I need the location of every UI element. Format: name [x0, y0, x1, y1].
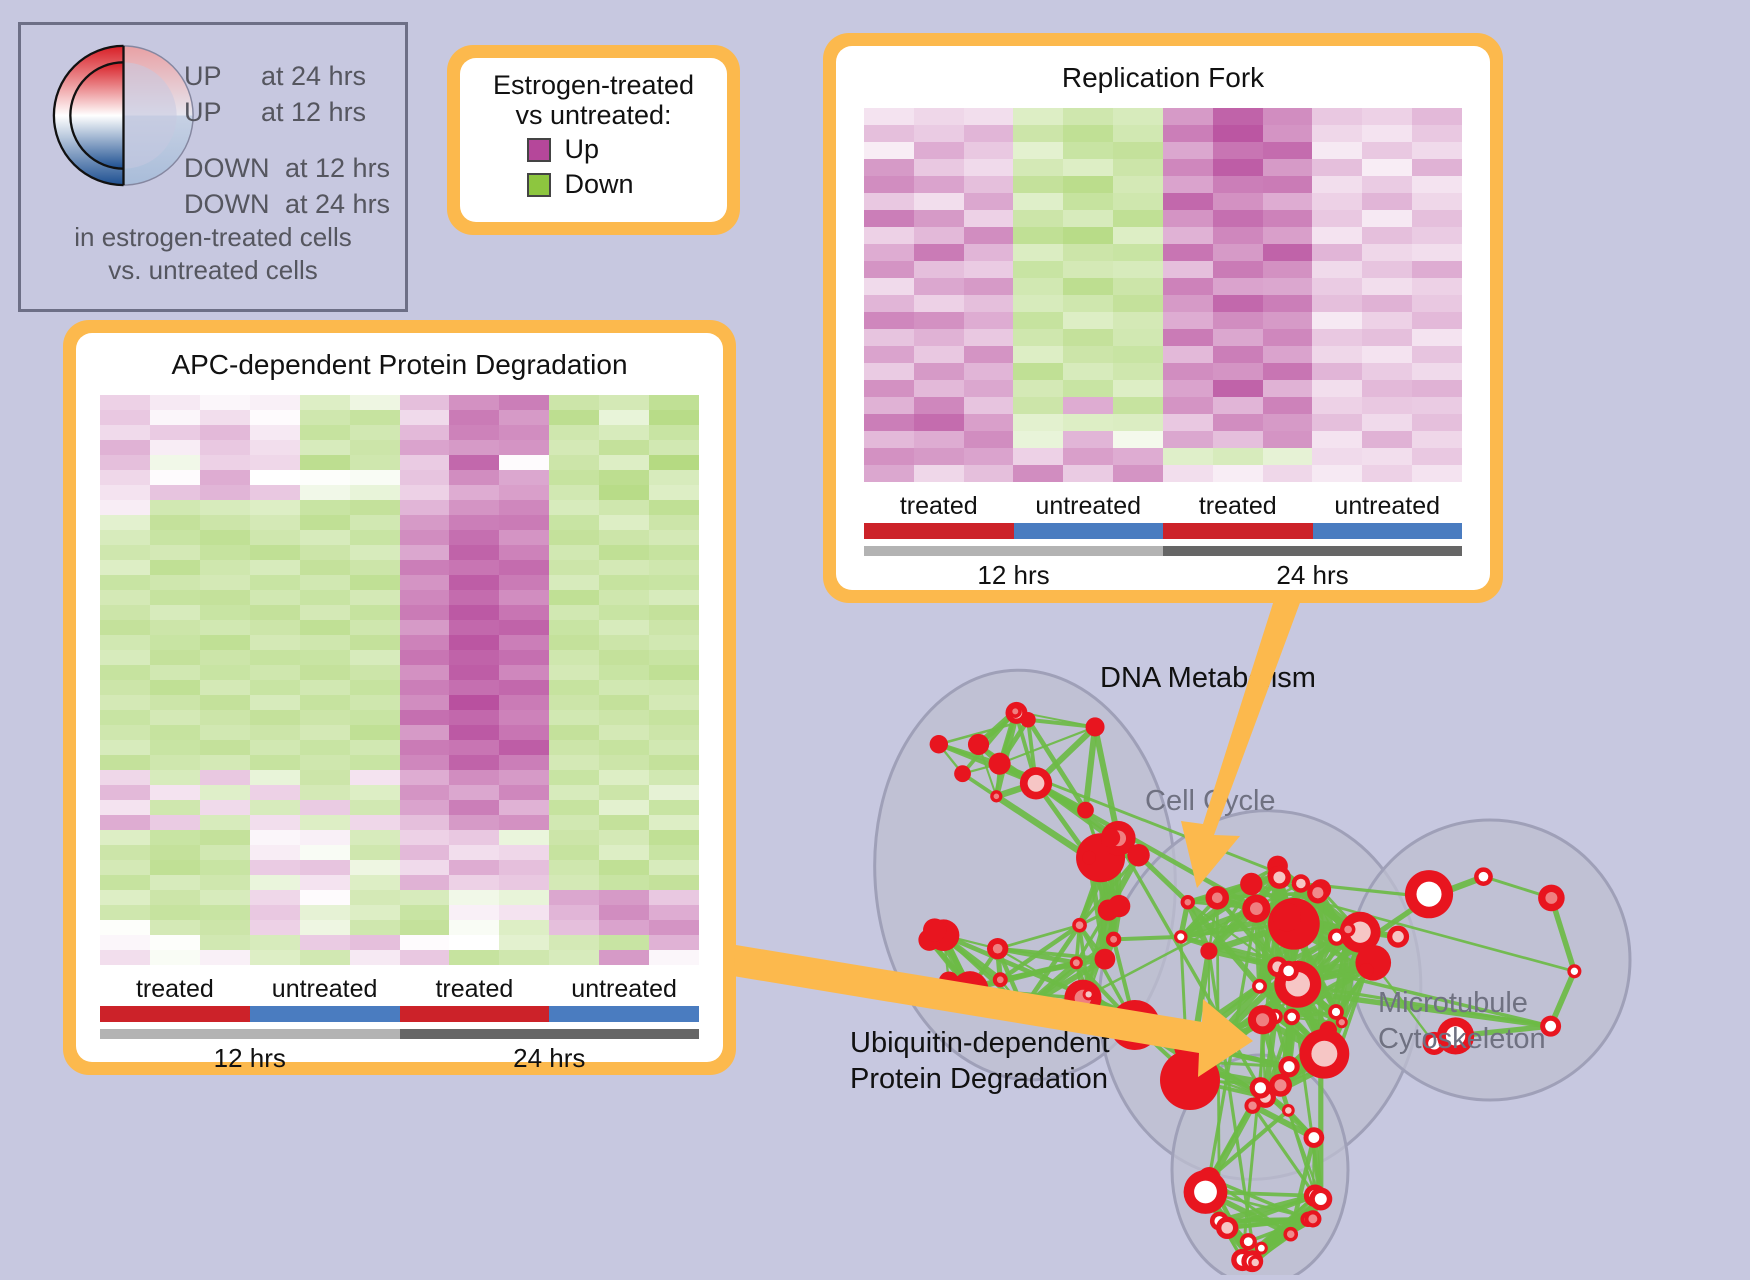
heatmap-cell: [250, 815, 300, 830]
node-core: [1256, 1013, 1269, 1026]
network-node[interactable]: [1083, 988, 1095, 1000]
heatmap-cell: [1063, 346, 1113, 363]
network-node[interactable]: [1355, 945, 1391, 981]
heatmap-cell: [350, 620, 400, 635]
heatmap-cell: [400, 830, 450, 845]
network-node[interactable]: [1405, 870, 1453, 918]
heatmap-cell: [250, 890, 300, 905]
heatmap-cell: [1213, 278, 1263, 295]
heatmap-cell: [864, 329, 914, 346]
heatmap-cell: [1163, 278, 1213, 295]
node-core: [1076, 921, 1084, 929]
heatmap-cell: [250, 680, 300, 695]
network-node[interactable]: [1341, 922, 1356, 937]
heatmap-cell: [599, 680, 649, 695]
network-node[interactable]: [1020, 767, 1052, 799]
heatmap-cell: [300, 575, 350, 590]
network-node[interactable]: [1268, 866, 1291, 889]
network-node[interactable]: [1282, 1104, 1295, 1117]
heatmap-cell: [549, 785, 599, 800]
heatmap-cell: [449, 440, 499, 455]
heatmap-cell: [250, 545, 300, 560]
heatmap-cell: [400, 740, 450, 755]
heatmap-cell: [200, 875, 250, 890]
heatmap-cell: [864, 176, 914, 193]
heatmap-cell: [1113, 210, 1163, 227]
wheel-time-1: at 12 hrs: [261, 97, 366, 128]
heatmap-cell: [300, 470, 350, 485]
heatmap-cell: [350, 800, 400, 815]
heatmap-cell: [100, 920, 150, 935]
node-core: [1275, 1079, 1287, 1091]
heatmap-cell: [599, 800, 649, 815]
heatmap-cell: [150, 650, 200, 665]
heatmap-cell: [400, 905, 450, 920]
heatmap-cell: [1213, 346, 1263, 363]
heatmap-cell: [499, 560, 549, 575]
heatmap-cell: [200, 710, 250, 725]
heatmap-cell: [1362, 108, 1412, 125]
heatmap-cell: [1312, 312, 1362, 329]
heatmap-cell: [250, 845, 300, 860]
apc-degradation-treatment-bars: [100, 1006, 699, 1022]
time-label-1: 24 hrs: [1163, 556, 1462, 591]
heatmap-cell: [400, 440, 450, 455]
network-node[interactable]: [987, 938, 1008, 959]
heatmap-cell: [250, 935, 300, 950]
heatmap-cell: [499, 875, 549, 890]
network-node[interactable]: [1278, 1056, 1299, 1077]
cluster-label-cell-cycle: Cell Cycle: [1145, 785, 1276, 818]
heatmap-cell: [549, 605, 599, 620]
heatmap-cell: [200, 905, 250, 920]
heatmap-cell: [1412, 312, 1462, 329]
heatmap-cell: [150, 830, 200, 845]
heatmap-cell: [599, 575, 649, 590]
heatmap-cell: [100, 725, 150, 740]
heatmap-cell: [599, 500, 649, 515]
wheel-state-0: UP: [184, 61, 222, 92]
heatmap-cell: [914, 346, 964, 363]
network-node[interactable]: [1250, 1077, 1272, 1099]
heatmap-cell: [200, 815, 250, 830]
heatmap-cell: [1163, 108, 1213, 125]
heatmap-cell: [1113, 125, 1163, 142]
network-node[interactable]: [989, 753, 1011, 775]
heatmap-cell: [649, 725, 699, 740]
heatmap-cell: [250, 590, 300, 605]
node-core: [1339, 1019, 1345, 1025]
heatmap-cell: [250, 950, 300, 965]
heatmap-cell: [1412, 329, 1462, 346]
heatmap-cell: [499, 905, 549, 920]
node-core: [1545, 1021, 1556, 1032]
network-node[interactable]: [1292, 874, 1310, 892]
heatmap-cell: [1412, 431, 1462, 448]
heatmap-cell: [1263, 448, 1313, 465]
network-node[interactable]: [1248, 1255, 1262, 1269]
network-node[interactable]: [1082, 851, 1096, 865]
heatmap-cell: [200, 740, 250, 755]
network-node[interactable]: [1248, 1005, 1277, 1034]
network-node[interactable]: [1160, 1050, 1220, 1110]
heatmap-cell: [100, 815, 150, 830]
node-core: [1073, 959, 1080, 966]
network-node[interactable]: [1205, 886, 1229, 910]
heatmap-cell: [499, 485, 549, 500]
heatmap-cell: [964, 125, 1014, 142]
heatmap-cell: [100, 845, 150, 860]
heatmap-cell: [150, 905, 200, 920]
heatmap-cell: [1412, 397, 1462, 414]
heatmap-cell: [549, 575, 599, 590]
heatmap-cell: [100, 800, 150, 815]
network-node[interactable]: [1181, 895, 1195, 909]
heatmap-cell: [449, 680, 499, 695]
heatmap-cell: [1213, 193, 1263, 210]
heatmap-cell: [400, 665, 450, 680]
heatmap-cell: [649, 920, 699, 935]
network-node[interactable]: [1278, 961, 1298, 981]
heatmap-cell: [100, 785, 150, 800]
heatmap-cell: [1263, 244, 1313, 261]
heatmap-cell: [1163, 414, 1213, 431]
network-node[interactable]: [1359, 963, 1373, 977]
network-node[interactable]: [1064, 980, 1101, 1017]
heatmap-cell: [649, 860, 699, 875]
heatmap-cell: [1412, 295, 1462, 312]
heatmap-cell: [250, 635, 300, 650]
heatmap-cell: [1213, 244, 1263, 261]
heatmap-cell: [1263, 176, 1313, 193]
heatmap-cell: [599, 455, 649, 470]
heatmap-cell: [1312, 380, 1362, 397]
apc-degradation-heatmap: [100, 395, 699, 965]
heatmap-cell: [649, 740, 699, 755]
heatmap-cell: [100, 665, 150, 680]
heatmap-cell: [964, 380, 1014, 397]
network-node[interactable]: [952, 971, 989, 1008]
network-node[interactable]: [1174, 930, 1188, 944]
network-node[interactable]: [1307, 882, 1328, 903]
heatmap-cell: [1163, 448, 1213, 465]
heatmap-cell: [549, 470, 599, 485]
heatmap-cell: [1113, 159, 1163, 176]
network-node[interactable]: [1110, 1000, 1160, 1050]
heatmap-cell: [1163, 465, 1213, 482]
heatmap-cell: [200, 500, 250, 515]
heatmap-cell: [1163, 244, 1213, 261]
heatmap-cell: [150, 695, 200, 710]
network-node[interactable]: [1094, 949, 1115, 970]
network-node[interactable]: [954, 765, 971, 782]
heatmap-cell: [1063, 244, 1113, 261]
heatmap-cell: [400, 860, 450, 875]
node-core: [994, 794, 1000, 800]
network-node[interactable]: [1009, 705, 1022, 718]
heatmap-cell: [150, 890, 200, 905]
network-node[interactable]: [1070, 956, 1083, 969]
heatmap-cell: [499, 935, 549, 950]
node-core: [1296, 879, 1306, 889]
heatmap-cell: [599, 905, 649, 920]
network-node[interactable]: [1387, 926, 1409, 948]
colorwheel-icon: [51, 43, 196, 188]
heatmap-cell: [1013, 431, 1063, 448]
network-node[interactable]: [1240, 1233, 1257, 1250]
time-bar-1: [400, 1029, 700, 1039]
heatmap-cell: [914, 227, 964, 244]
heatmap-cell: [549, 935, 599, 950]
cluster-halo-2: [1350, 820, 1630, 1100]
apc-degradation-group-labels: treateduntreatedtreateduntreated: [100, 975, 699, 1004]
heatmap-cell: [549, 740, 599, 755]
heatmap-cell: [250, 560, 300, 575]
heatmap-cell: [1013, 380, 1063, 397]
color-legend-heading-line2: vs untreated:: [470, 100, 717, 130]
heatmap-cell: [914, 210, 964, 227]
heatmap-cell: [499, 920, 549, 935]
heatmap-cell: [1312, 142, 1362, 159]
colorwheel-footer-line2: vs. untreated cells: [21, 254, 405, 287]
network-node[interactable]: [1184, 1170, 1228, 1214]
heatmap-cell: [1163, 431, 1213, 448]
legend-item-down: Down: [470, 169, 717, 200]
heatmap-cell: [400, 755, 450, 770]
network-node[interactable]: [930, 735, 948, 753]
heatmap-cell: [200, 620, 250, 635]
heatmap-cell: [499, 800, 549, 815]
heatmap-cell: [250, 410, 300, 425]
treatment-bar-1: [250, 1006, 400, 1022]
network-node[interactable]: [1242, 894, 1270, 922]
heatmap-cell: [1412, 227, 1462, 244]
heatmap-cell: [300, 605, 350, 620]
node-core: [1256, 982, 1264, 990]
heatmap-cell: [599, 845, 649, 860]
network-node[interactable]: [1304, 1210, 1321, 1227]
network-node[interactable]: [1538, 885, 1565, 912]
heatmap-cell: [1312, 363, 1362, 380]
network-node[interactable]: [990, 790, 1002, 802]
heatmap-cell: [1113, 448, 1163, 465]
network-node[interactable]: [968, 734, 989, 755]
heatmap-cell: [964, 397, 1014, 414]
heatmap-cell: [964, 363, 1014, 380]
heatmap-cell: [100, 755, 150, 770]
apc-degradation-panel: APC-dependent Protein Degradation treate…: [63, 320, 736, 1075]
heatmap-cell: [499, 710, 549, 725]
heatmap-cell: [1113, 227, 1163, 244]
network-node[interactable]: [1328, 1004, 1344, 1020]
heatmap-cell: [400, 680, 450, 695]
heatmap-cell: [649, 530, 699, 545]
colorwheel-footer: in estrogen-treated cells vs. untreated …: [21, 221, 405, 286]
heatmap-cell: [400, 935, 450, 950]
heatmap-cell: [449, 500, 499, 515]
network-node[interactable]: [1299, 1029, 1349, 1079]
heatmap-cell: [449, 770, 499, 785]
network-node[interactable]: [1077, 802, 1094, 819]
network-node[interactable]: [1020, 712, 1035, 727]
heatmap-cell: [350, 815, 400, 830]
heatmap-cell: [350, 725, 400, 740]
heatmap-cell: [1113, 465, 1163, 482]
heatmap-cell: [350, 440, 400, 455]
heatmap-cell: [200, 890, 250, 905]
heatmap-cell: [549, 590, 599, 605]
network-node[interactable]: [1101, 828, 1120, 847]
treatment-bar-0: [100, 1006, 250, 1022]
group-label-0: treated: [100, 975, 250, 1004]
network-node[interactable]: [1012, 997, 1035, 1020]
heatmap-cell: [599, 545, 649, 560]
network-node[interactable]: [1086, 717, 1105, 736]
heatmap-cell: [250, 620, 300, 635]
heatmap-cell: [400, 635, 450, 650]
heatmap-cell: [1013, 227, 1063, 244]
heatmap-cell: [400, 770, 450, 785]
heatmap-cell: [400, 605, 450, 620]
heatmap-cell: [1063, 159, 1113, 176]
heatmap-cell: [864, 227, 914, 244]
heatmap-cell: [350, 575, 400, 590]
network-node[interactable]: [1283, 1227, 1298, 1242]
apc-degradation-time-labels: 12 hrs24 hrs: [100, 1039, 699, 1074]
node-core: [1283, 966, 1294, 977]
network-node[interactable]: [993, 972, 1008, 987]
heatmap-cell: [549, 830, 599, 845]
heatmap-cell: [1163, 346, 1213, 363]
heatmap-cell: [200, 725, 250, 740]
apc-degradation-title: APC-dependent Protein Degradation: [76, 333, 723, 381]
network-node[interactable]: [1127, 844, 1149, 866]
network-node[interactable]: [1255, 1242, 1268, 1255]
network-node[interactable]: [1309, 1188, 1332, 1211]
network-svg: [790, 610, 1740, 1275]
heatmap-cell: [1263, 125, 1313, 142]
heatmap-cell: [350, 770, 400, 785]
heatmap-cell: [864, 244, 914, 261]
heatmap-cell: [1063, 363, 1113, 380]
node-core: [1194, 1181, 1217, 1204]
heatmap-cell: [964, 295, 1014, 312]
heatmap-cell: [300, 395, 350, 410]
heatmap-cell: [250, 905, 300, 920]
heatmap-cell: [914, 176, 964, 193]
heatmap-cell: [250, 485, 300, 500]
heatmap-cell: [1412, 448, 1462, 465]
heatmap-cell: [1213, 397, 1263, 414]
heatmap-cell: [1213, 448, 1263, 465]
heatmap-cell: [100, 425, 150, 440]
heatmap-cell: [599, 425, 649, 440]
heatmap-cell: [649, 395, 699, 410]
heatmap-cell: [350, 455, 400, 470]
heatmap-cell: [400, 890, 450, 905]
heatmap-cell: [449, 905, 499, 920]
heatmap-cell: [1263, 159, 1313, 176]
heatmap-cell: [300, 875, 350, 890]
network-node[interactable]: [1304, 1127, 1325, 1148]
network-node[interactable]: [1567, 964, 1581, 978]
network-node[interactable]: [1474, 867, 1493, 886]
heatmap-cell: [549, 695, 599, 710]
heatmap-cell: [649, 815, 699, 830]
network-node[interactable]: [923, 918, 946, 941]
heatmap-cell: [400, 650, 450, 665]
heatmap-cell: [449, 530, 499, 545]
network-node[interactable]: [1244, 1098, 1260, 1114]
network-node[interactable]: [1106, 932, 1121, 947]
legend-label-down: Down: [565, 169, 661, 200]
network-node[interactable]: [1283, 1009, 1300, 1026]
heatmap-cell: [200, 695, 250, 710]
wheel-state-1: UP: [184, 97, 222, 128]
heatmap-cell: [400, 800, 450, 815]
heatmap-cell: [300, 710, 350, 725]
cluster-label-ubiquitin-degradation: Ubiquitin-dependent Protein Degradation: [850, 1025, 1110, 1098]
heatmap-cell: [1163, 261, 1213, 278]
heatmap-cell: [1113, 312, 1163, 329]
network-node[interactable]: [1200, 942, 1217, 959]
network-node[interactable]: [1072, 918, 1087, 933]
node-core: [1273, 871, 1285, 883]
heatmap-cell: [1063, 329, 1113, 346]
heatmap-cell: [150, 950, 200, 965]
heatmap-cell: [250, 800, 300, 815]
group-label-1: untreated: [250, 975, 400, 1004]
node-core: [1392, 931, 1403, 942]
heatmap-cell: [400, 845, 450, 860]
heatmap-cell: [200, 785, 250, 800]
heatmap-cell: [200, 425, 250, 440]
heatmap-cell: [250, 725, 300, 740]
heatmap-cell: [499, 620, 549, 635]
network-node[interactable]: [1240, 873, 1262, 895]
wheel-time-3: at 24 hrs: [285, 189, 390, 220]
heatmap-cell: [300, 785, 350, 800]
heatmap-cell: [914, 414, 964, 431]
network-node[interactable]: [1252, 979, 1267, 994]
heatmap-cell: [864, 312, 914, 329]
heatmap-cell: [914, 312, 964, 329]
heatmap-cell: [1063, 295, 1113, 312]
heatmap-cell: [549, 665, 599, 680]
network-node[interactable]: [1108, 895, 1130, 917]
heatmap-cell: [549, 620, 599, 635]
network-node[interactable]: [1216, 1217, 1238, 1239]
heatmap-cell: [250, 500, 300, 515]
heatmap-cell: [449, 515, 499, 530]
heatmap-cell: [400, 710, 450, 725]
group-label-1: untreated: [1014, 492, 1164, 521]
heatmap-cell: [100, 410, 150, 425]
heatmap-cell: [150, 710, 200, 725]
network-node[interactable]: [1272, 903, 1301, 932]
heatmap-cell: [300, 530, 350, 545]
heatmap-cell: [1013, 261, 1063, 278]
heatmap-cell: [300, 740, 350, 755]
heatmap-cell: [964, 142, 1014, 159]
heatmap-cell: [449, 470, 499, 485]
heatmap-cell: [1063, 380, 1113, 397]
heatmap-cell: [1163, 312, 1213, 329]
heatmap-cell: [449, 635, 499, 650]
heatmap-cell: [150, 770, 200, 785]
heatmap-cell: [914, 244, 964, 261]
heatmap-cell: [350, 710, 400, 725]
